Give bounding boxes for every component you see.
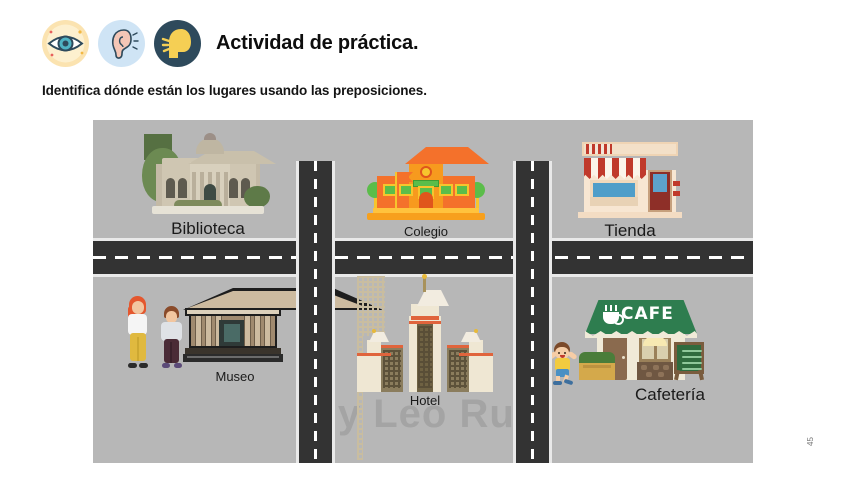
slide: Actividad de práctica. Identifica dónde …: [0, 0, 853, 480]
woman-figure: [125, 296, 151, 368]
museum-building-art: [183, 284, 283, 362]
place-colegio: Colegio: [346, 140, 506, 239]
cafe-sign-text: CAFE: [621, 304, 674, 324]
page-number: 45: [806, 437, 815, 446]
place-label-cafeteria: Cafetería: [541, 386, 741, 405]
speaking-head-icon: [154, 20, 201, 67]
place-tienda: Tienda: [555, 136, 705, 241]
road-center-line: [314, 161, 317, 463]
road-center-line: [531, 161, 534, 463]
planter-left: [579, 360, 615, 380]
place-cafeteria: CAFE Cafetería: [541, 294, 741, 405]
coffee-cup-icon: [603, 312, 619, 324]
eye-icon: [42, 20, 89, 67]
place-label-museo: Museo: [117, 370, 297, 384]
header: Actividad de práctica.: [42, 20, 418, 67]
library-building-art: [144, 134, 272, 216]
place-museo: Museo: [117, 288, 297, 384]
road-center-line: [93, 256, 753, 259]
ear-icon: [98, 20, 145, 67]
place-label-colegio: Colegio: [346, 225, 506, 239]
instruction-text: Identifica dónde están los lugares usand…: [42, 83, 427, 98]
man-figure: [159, 304, 185, 368]
steam-icon: [605, 305, 617, 311]
menu-board: [671, 340, 707, 380]
road-vertical-right: [513, 161, 552, 463]
road-horizontal: [93, 238, 753, 277]
place-hotel: Hotel: [355, 276, 495, 408]
couple-figure-art: [123, 296, 185, 368]
map-panel: By Leo Ruiz: [93, 120, 753, 463]
cafe-building-art: CAFE: [581, 294, 701, 380]
road-vertical-left: [296, 161, 335, 463]
place-label-biblioteca: Biblioteca: [133, 220, 283, 239]
place-label-hotel: Hotel: [355, 394, 495, 408]
store-building-art: [578, 136, 682, 218]
place-label-tienda: Tienda: [555, 222, 705, 241]
page-title: Actividad de práctica.: [216, 32, 418, 55]
school-building-art: [365, 140, 487, 220]
hotel-building-art: [357, 276, 493, 392]
place-biblioteca: Biblioteca: [133, 134, 283, 239]
